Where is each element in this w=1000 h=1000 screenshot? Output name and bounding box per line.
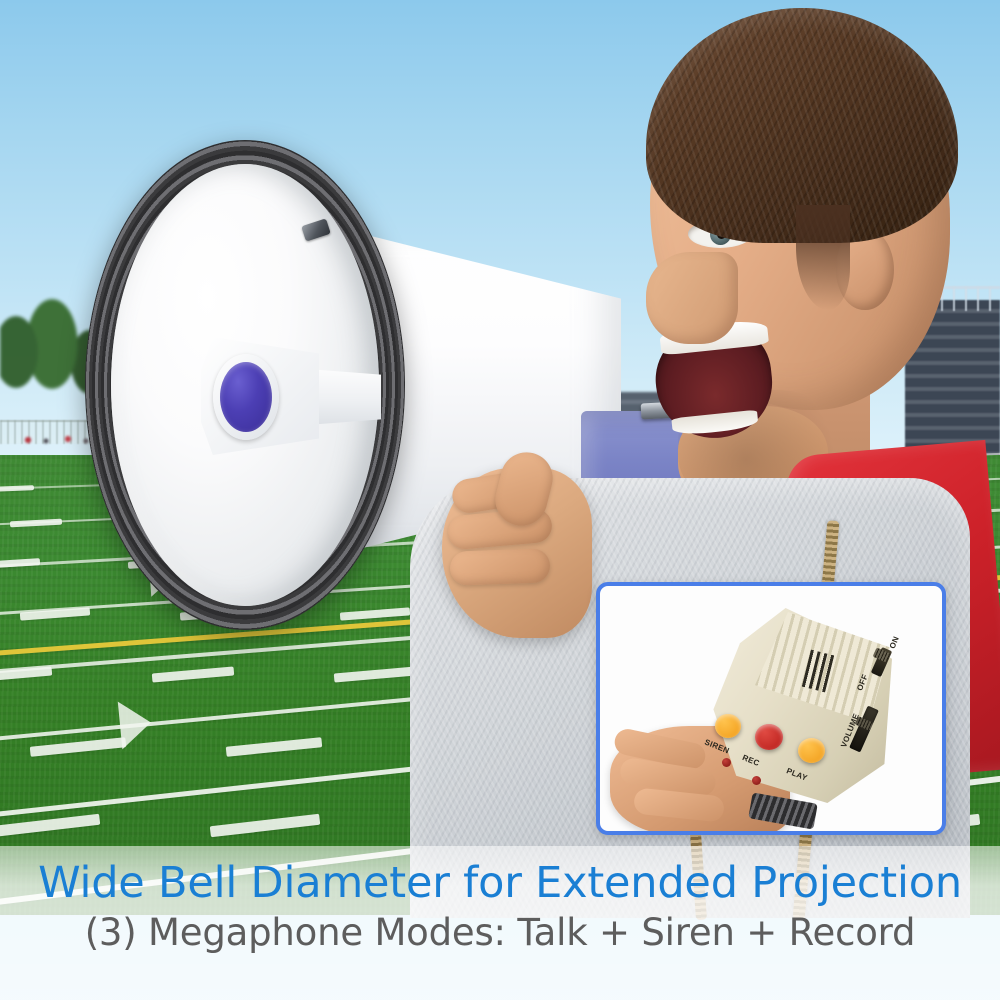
rec-button[interactable] bbox=[755, 724, 783, 750]
product-detail-inset: SIREN REC PLAY VOLUME OFF ON bbox=[596, 582, 946, 835]
caption-headline: Wide Bell Diameter for Extended Projecti… bbox=[0, 862, 1000, 906]
nose bbox=[646, 252, 738, 344]
led-indicator bbox=[722, 758, 731, 767]
caption-block: Wide Bell Diameter for Extended Projecti… bbox=[0, 862, 1000, 953]
yard-marking bbox=[118, 699, 153, 750]
power-on-label: ON bbox=[888, 635, 901, 650]
siren-button[interactable] bbox=[715, 714, 741, 738]
product-marketing-image: PYLE PyleUSA.com bbox=[0, 0, 1000, 1000]
finger bbox=[449, 548, 550, 585]
led-indicator bbox=[752, 776, 761, 785]
play-button[interactable] bbox=[798, 738, 825, 763]
caption-subline: (3) Megaphone Modes: Talk + Siren + Reco… bbox=[0, 912, 1000, 953]
megaphone-driver-cap bbox=[220, 362, 272, 432]
